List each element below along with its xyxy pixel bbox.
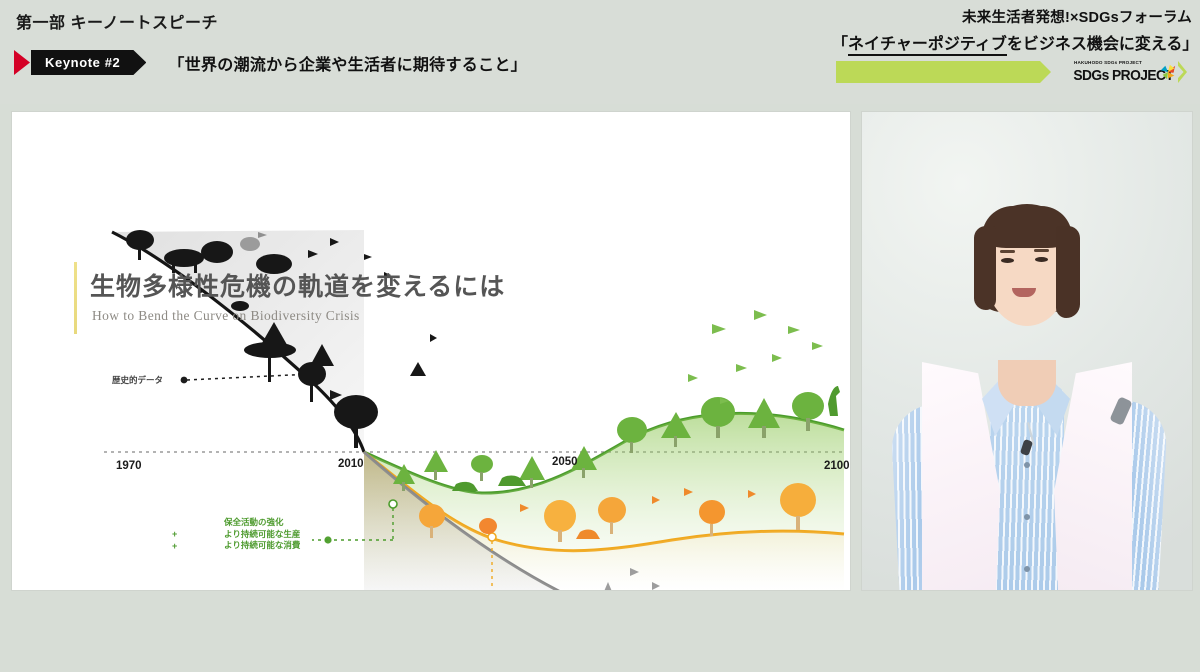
eye-right (1035, 257, 1048, 262)
label-green-scenario: 保全活動の強化 より持続可能な生産 より持続可能な消費 (224, 517, 300, 552)
silhouette-cluster-historical (126, 230, 437, 448)
year-label-2010: 2010 (338, 458, 364, 470)
forum-branding: 未来生活者発想!×SDGsフォーラム 「ネイチャーポジティブをビジネス機会に変え… (832, 6, 1192, 83)
plus-1: + (172, 529, 177, 541)
title-accent-bar (74, 262, 77, 334)
forum-quote-open: 「 (832, 36, 848, 53)
biodiversity-curve-chart (12, 112, 850, 590)
presentation-slide[interactable]: 生物多様性危機の軌道を変えるには How to Bend the Curve o… (12, 112, 850, 590)
forum-title-line2: 「ネイチャーポジティブをビジネス機会に変える」 (832, 30, 1192, 54)
eye-left (1001, 258, 1014, 263)
historical-connector (181, 374, 312, 383)
forum-title-line1: 未来生活者発想!×SDGsフォーラム (832, 6, 1192, 27)
year-label-2100: 2100 (824, 460, 850, 472)
keynote-badge: Keynote #2 (31, 50, 146, 75)
slide-title-ja: 生物多様性危機の軌道を変えるには (90, 267, 505, 303)
sdgs-green-bar (836, 61, 1051, 83)
hair-side-left (974, 226, 996, 310)
year-label-2050: 2050 (552, 456, 578, 468)
green-line-1: 保全活動の強化 (224, 517, 300, 529)
hair-side-right (1056, 226, 1080, 318)
forum-keyword: ネイチャーポジティブ (848, 36, 1007, 56)
sdgs-caret-icon (1178, 61, 1187, 83)
screen: 第一部 キーノートスピーチ Keynote #2 「世界の潮流から企業や生活者に… (0, 0, 1200, 672)
plus-2: + (172, 541, 177, 553)
sdgs-logo-subtitle: HAKUHODO SDGs PROJECT (1074, 60, 1142, 65)
slide-title-en: How to Bend the Curve on Biodiversity Cr… (92, 308, 360, 324)
sdgs-bar: HAKUHODO SDGs PROJECT SDGs PROJECT (832, 61, 1192, 83)
series-label: 第一部 キーノートスピーチ (16, 9, 218, 33)
shirt-button-3 (1024, 566, 1030, 572)
historical-area (112, 230, 364, 452)
green-line-3: より持続可能な消費 (224, 540, 300, 552)
legend-plus-signs: + + (172, 529, 177, 552)
keynote-title: 「世界の潮流から企業や生活者に期待すること」 (168, 51, 527, 75)
label-historical-data: 歴史的データ (112, 374, 163, 386)
slide-content: 生物多様性危機の軌道を変えるには How to Bend the Curve o… (12, 112, 850, 590)
sdgs-project-logo: HAKUHODO SDGs PROJECT SDGs PROJECT (1069, 61, 1178, 83)
speaker-video-panel[interactable] (862, 112, 1192, 590)
eyebrow-right (1034, 249, 1049, 252)
keynote-row: Keynote #2 「世界の潮流から企業や生活者に期待すること」 (14, 50, 527, 75)
red-triangle-icon (14, 50, 30, 75)
year-label-1970: 1970 (116, 460, 142, 472)
neck (998, 360, 1056, 406)
shirt-button-2 (1024, 514, 1030, 520)
sdgs-pinwheel-icon (1159, 63, 1177, 81)
eyebrow-left (1000, 250, 1015, 253)
shirt-button-1 (1024, 462, 1030, 468)
green-line-2: より持続可能な生産 (224, 529, 300, 541)
speaker-figure (902, 344, 1152, 590)
keynote-badge-label: Keynote #2 (45, 55, 120, 70)
page-header: 第一部 キーノートスピーチ Keynote #2 「世界の潮流から企業や生活者に… (0, 0, 1200, 104)
forum-title-rest: をビジネス機会に変える」 (1007, 36, 1199, 53)
